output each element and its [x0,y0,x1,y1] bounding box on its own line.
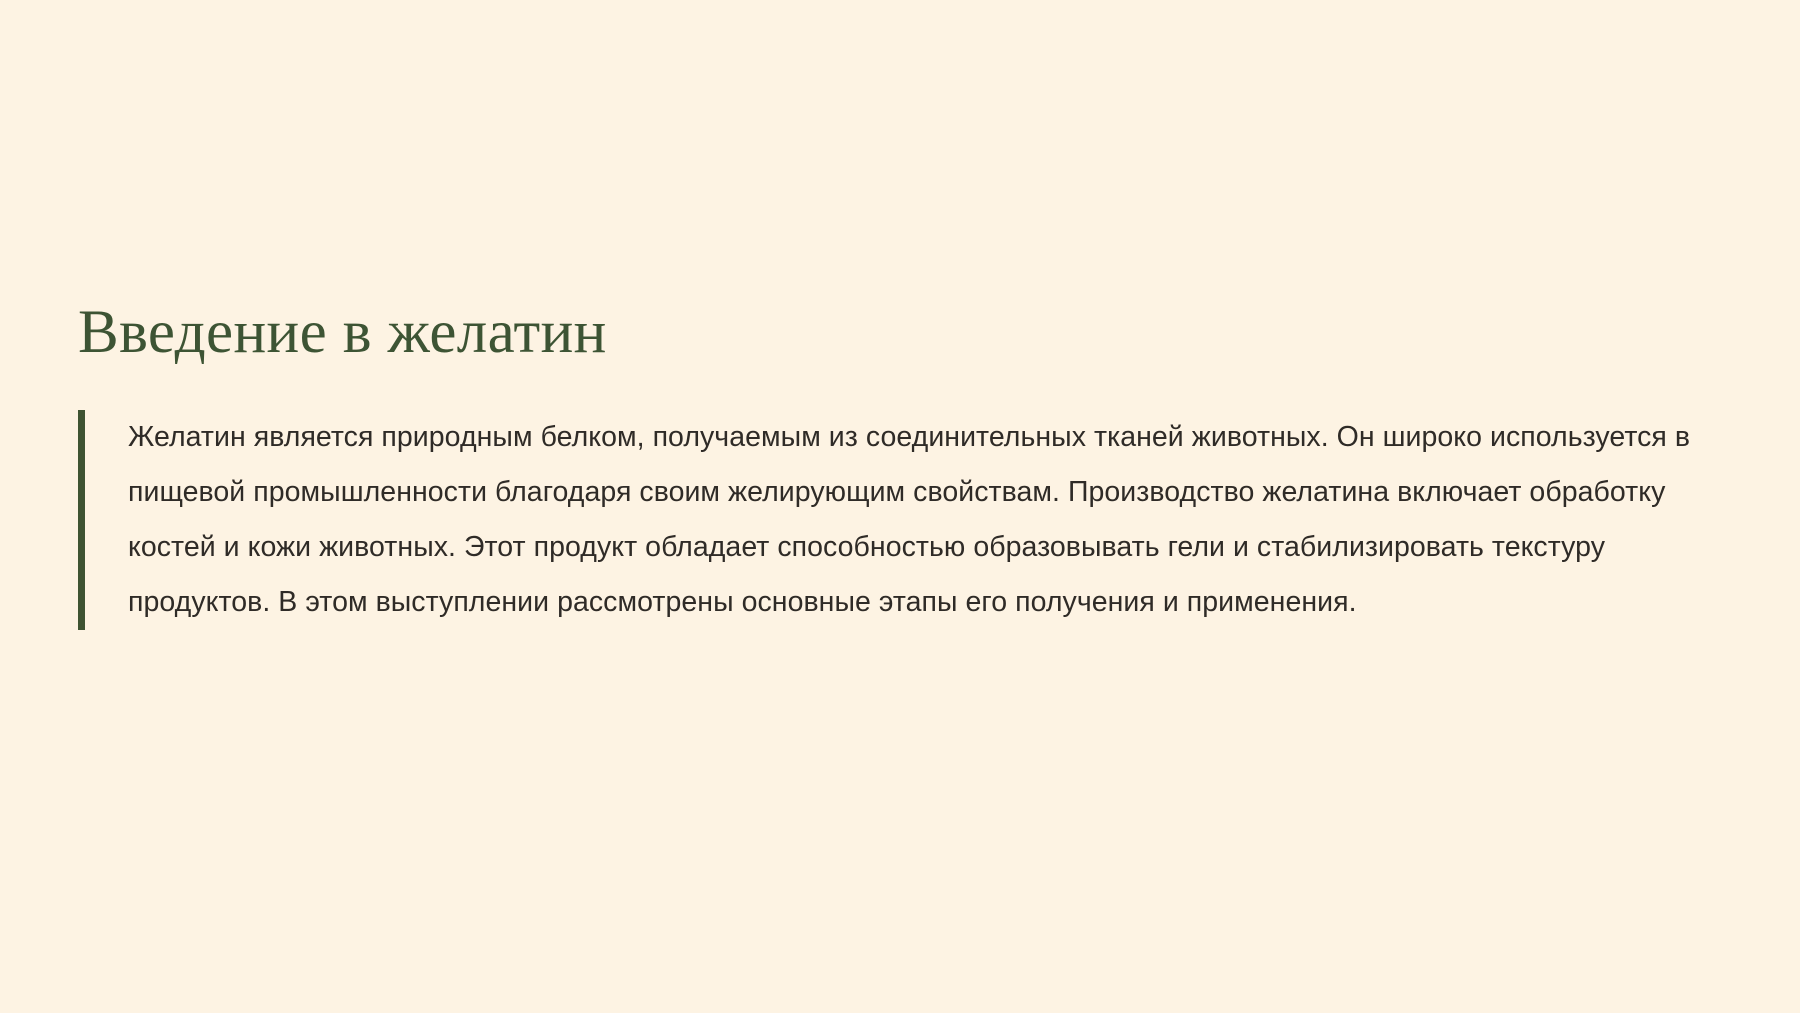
body-paragraph: Желатин является природным белком, получ… [128,410,1718,630]
accent-bar [78,410,85,630]
page-title: Введение в желатин [78,300,1718,366]
quote-block: Желатин является природным белком, получ… [78,410,1718,630]
slide-canvas: Введение в желатин Желатин является прир… [0,0,1800,1013]
slide-content: Введение в желатин Желатин является прир… [78,300,1718,630]
